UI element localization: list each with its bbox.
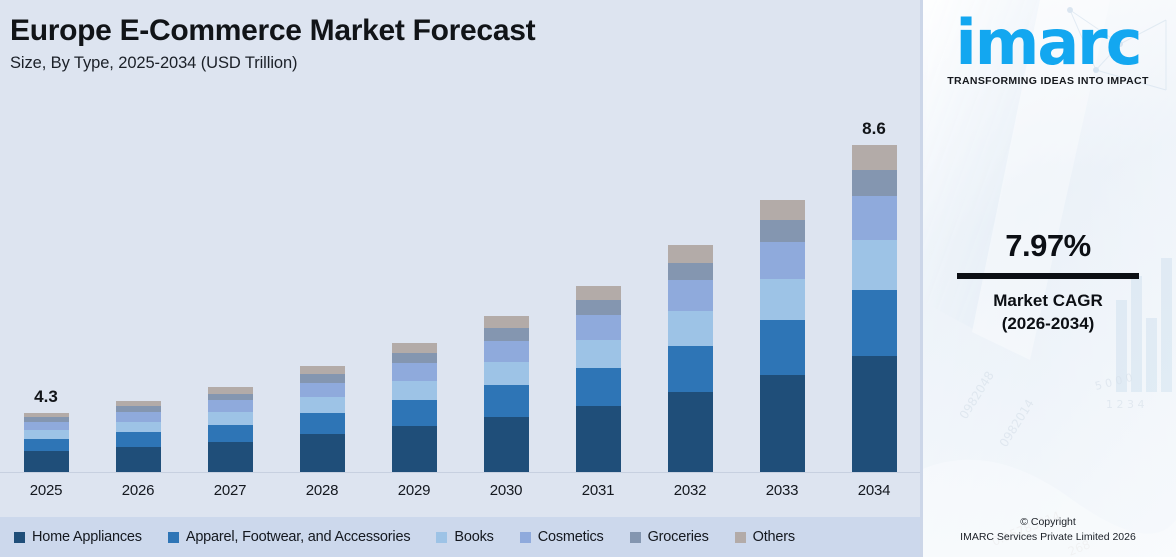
- imarc-logo: imarc TRANSFORMING IDEAS INTO IMPACT: [920, 14, 1176, 87]
- bar-group-2028[interactable]: [276, 110, 368, 472]
- chart-subtitle: Size, By Type, 2025-2034 (USD Trillion): [10, 54, 535, 73]
- chart-screenshot: Europe E-Commerce Market Forecast Size, …: [0, 0, 1176, 557]
- bar-segment[interactable]: [300, 397, 345, 413]
- bar-segment[interactable]: [24, 430, 69, 439]
- bar-segment[interactable]: [668, 263, 713, 281]
- legend-item-1[interactable]: Apparel, Footwear, and Accessories: [168, 529, 411, 545]
- legend-item-0[interactable]: Home Appliances: [14, 529, 142, 545]
- bar-segment[interactable]: [300, 413, 345, 434]
- bar-segment[interactable]: [300, 434, 345, 472]
- legend-label: Cosmetics: [538, 529, 604, 545]
- bar-total-label-2025: 4.3: [34, 387, 58, 407]
- bar-segment[interactable]: [668, 392, 713, 472]
- bar-segment[interactable]: [392, 381, 437, 401]
- bar-segment[interactable]: [208, 400, 253, 411]
- stacked-bar-2025[interactable]: [24, 413, 69, 472]
- cagr-period: (2026-2034): [920, 313, 1176, 336]
- legend-swatch-icon: [14, 532, 25, 543]
- bar-group-2034[interactable]: 8.6: [828, 110, 920, 472]
- bar-segment[interactable]: [576, 340, 621, 368]
- bar-segment[interactable]: [668, 245, 713, 262]
- x-axis-label-2033: 2033: [736, 482, 828, 499]
- cagr-value: 7.97%: [920, 228, 1176, 264]
- plot-area: 4.38.6: [0, 110, 920, 472]
- bar-segment[interactable]: [668, 311, 713, 346]
- x-axis-label-2030: 2030: [460, 482, 552, 499]
- legend-label: Apparel, Footwear, and Accessories: [186, 529, 411, 545]
- legend-label: Home Appliances: [32, 529, 142, 545]
- bar-segment[interactable]: [484, 385, 529, 417]
- x-axis-label-2026: 2026: [92, 482, 184, 499]
- bar-segment[interactable]: [576, 315, 621, 340]
- bar-segment[interactable]: [24, 451, 69, 472]
- legend-item-2[interactable]: Books: [436, 529, 493, 545]
- cagr-divider: [957, 273, 1139, 279]
- bar-segment[interactable]: [116, 422, 161, 433]
- chart-header: Europe E-Commerce Market Forecast Size, …: [10, 14, 535, 73]
- bar-segment[interactable]: [760, 242, 805, 279]
- stacked-bar-2034[interactable]: [852, 145, 897, 472]
- legend-label: Books: [454, 529, 493, 545]
- logo-wordmark: imarc: [920, 14, 1176, 71]
- svg-text:5 0 0 0: 5 0 0 0: [1094, 371, 1134, 393]
- bar-segment[interactable]: [576, 406, 621, 472]
- chart-legend: Home AppliancesApparel, Footwear, and Ac…: [0, 517, 920, 557]
- legend-item-3[interactable]: Cosmetics: [520, 529, 604, 545]
- bar-segment[interactable]: [208, 387, 253, 394]
- bar-segment[interactable]: [484, 328, 529, 340]
- legend-label: Groceries: [648, 529, 709, 545]
- bar-segment[interactable]: [760, 220, 805, 242]
- bar-segment[interactable]: [852, 196, 897, 240]
- bar-segment[interactable]: [484, 316, 529, 328]
- copyright-line-1: © Copyright: [920, 515, 1176, 530]
- bar-group-2025[interactable]: 4.3: [0, 110, 92, 472]
- copyright-line-2: IMARC Services Private Limited 2026: [920, 530, 1176, 545]
- x-axis-label-2029: 2029: [368, 482, 460, 499]
- copyright-notice: © Copyright IMARC Services Private Limit…: [920, 515, 1176, 545]
- legend-label: Others: [753, 529, 795, 545]
- bar-segment[interactable]: [760, 279, 805, 321]
- brand-panel: 1 2 3 4 5 0 0 0 0982048 0982014 0.157832…: [920, 0, 1176, 557]
- bar-segment[interactable]: [208, 394, 253, 401]
- x-axis-label-2032: 2032: [644, 482, 736, 499]
- bar-group-2031[interactable]: [552, 110, 644, 472]
- bar-segment[interactable]: [852, 290, 897, 356]
- stacked-bar-2029[interactable]: [392, 343, 437, 472]
- x-axis-label-2028: 2028: [276, 482, 368, 499]
- x-axis-label-2025: 2025: [0, 482, 92, 499]
- bar-group-2030[interactable]: [460, 110, 552, 472]
- x-axis-label-2027: 2027: [184, 482, 276, 499]
- bar-segment[interactable]: [852, 356, 897, 472]
- bar-segment[interactable]: [852, 145, 897, 170]
- bar-segment[interactable]: [668, 280, 713, 311]
- stacked-bar-2030[interactable]: [484, 316, 529, 472]
- bar-segment[interactable]: [576, 368, 621, 406]
- bar-segment[interactable]: [852, 170, 897, 196]
- x-axis-line: [0, 472, 920, 473]
- bar-segment[interactable]: [760, 320, 805, 375]
- bar-segment[interactable]: [24, 439, 69, 451]
- chart-panel: Europe E-Commerce Market Forecast Size, …: [0, 0, 920, 557]
- panel-divider: [920, 0, 923, 557]
- bar-segment[interactable]: [208, 412, 253, 425]
- legend-swatch-icon: [630, 532, 641, 543]
- legend-swatch-icon: [168, 532, 179, 543]
- page-title: Europe E-Commerce Market Forecast: [10, 14, 535, 47]
- bar-segment[interactable]: [760, 375, 805, 472]
- legend-item-4[interactable]: Groceries: [630, 529, 709, 545]
- bar-segment[interactable]: [576, 300, 621, 315]
- bar-segment[interactable]: [484, 341, 529, 362]
- bar-segment[interactable]: [852, 240, 897, 290]
- bar-group-2033[interactable]: [736, 110, 828, 472]
- bar-group-2029[interactable]: [368, 110, 460, 472]
- svg-text:0982048: 0982048: [957, 369, 997, 422]
- bar-segment[interactable]: [576, 286, 621, 300]
- bar-segment[interactable]: [116, 432, 161, 446]
- legend-swatch-icon: [735, 532, 746, 543]
- bar-segment[interactable]: [116, 447, 161, 472]
- legend-item-5[interactable]: Others: [735, 529, 795, 545]
- bar-segment[interactable]: [300, 383, 345, 397]
- svg-text:0982014: 0982014: [997, 397, 1037, 450]
- bar-group-2027[interactable]: [184, 110, 276, 472]
- legend-swatch-icon: [436, 532, 447, 543]
- bar-segment[interactable]: [760, 200, 805, 220]
- bar-segment[interactable]: [484, 362, 529, 386]
- bar-segment[interactable]: [300, 374, 345, 382]
- bar-segment[interactable]: [24, 422, 69, 430]
- bar-segment[interactable]: [392, 400, 437, 426]
- cagr-label: Market CAGR: [920, 290, 1176, 313]
- x-axis-labels: 2025202620272028202920302031203220332034: [0, 482, 920, 499]
- bar-segment[interactable]: [208, 442, 253, 472]
- svg-text:1 2 3 4: 1 2 3 4: [1106, 398, 1144, 411]
- bar-series-container: 4.38.6: [0, 110, 920, 472]
- stacked-bar-2026[interactable]: [116, 401, 161, 472]
- legend-swatch-icon: [520, 532, 531, 543]
- x-axis-label-2031: 2031: [552, 482, 644, 499]
- logo-tagline: TRANSFORMING IDEAS INTO IMPACT: [920, 75, 1176, 87]
- bar-segment[interactable]: [668, 346, 713, 392]
- x-axis-label-2034: 2034: [828, 482, 920, 499]
- stacked-bar-2028[interactable]: [300, 366, 345, 472]
- stacked-bar-2027[interactable]: [208, 387, 253, 472]
- bar-total-label-2034: 8.6: [862, 119, 886, 139]
- bar-segment[interactable]: [392, 353, 437, 363]
- bar-group-2026[interactable]: [92, 110, 184, 472]
- bar-segment[interactable]: [392, 343, 437, 353]
- stacked-bar-2031[interactable]: [576, 286, 621, 472]
- stacked-bar-2032[interactable]: [668, 245, 713, 472]
- bar-segment[interactable]: [392, 363, 437, 380]
- cagr-block: 7.97% Market CAGR (2026-2034): [920, 228, 1176, 336]
- bar-segment[interactable]: [116, 412, 161, 422]
- bar-segment[interactable]: [208, 425, 253, 442]
- stacked-bar-2033[interactable]: [760, 200, 805, 472]
- bar-segment[interactable]: [484, 417, 529, 472]
- bar-group-2032[interactable]: [644, 110, 736, 472]
- bar-segment[interactable]: [392, 426, 437, 472]
- bar-segment[interactable]: [300, 366, 345, 374]
